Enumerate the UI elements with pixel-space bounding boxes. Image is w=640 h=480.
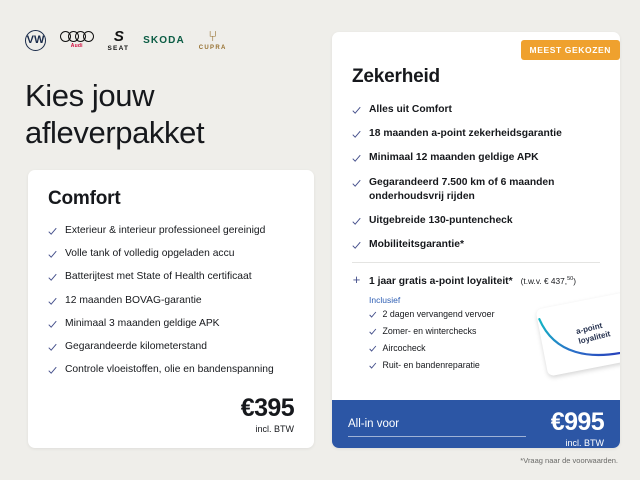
check-icon (352, 154, 361, 163)
skoda-wordmark: SKODA (143, 35, 185, 46)
list-item: 12 maanden BOVAG-garantie (48, 294, 294, 308)
list-item-label: 18 maanden a-point zekerheidsgarantie (369, 127, 562, 141)
check-icon (352, 130, 361, 139)
inclusief-block: Inclusief 2 dagen vervangend vervoer Zom… (369, 295, 600, 372)
package-card-comfort[interactable]: Comfort Exterieur & interieur profession… (28, 170, 314, 448)
comfort-feature-list: Exterieur & interieur professioneel gere… (48, 224, 294, 377)
allin-label: All-in voor (348, 410, 399, 430)
list-item: Minimaal 3 maanden geldige APK (48, 317, 294, 331)
zekerheid-price-note: incl. BTW (551, 438, 604, 448)
list-item-label: Minimaal 3 maanden geldige APK (65, 317, 220, 331)
comfort-title: Comfort (48, 188, 294, 210)
zekerheid-price-row: All-in voor €995 incl. BTW (348, 410, 604, 448)
brand-logo-strip: VW Audi S SEAT SKODA ⑂ CUPRA (25, 26, 227, 54)
list-item: Alles uit Comfort (352, 103, 600, 117)
check-icon (369, 311, 377, 319)
list-item: Batterijtest met State of Health certifi… (48, 270, 294, 284)
list-item: Gegarandeerde kilometerstand (48, 340, 294, 354)
list-item-label: 2 dagen vervangend vervoer (383, 309, 495, 321)
check-icon (352, 241, 361, 250)
list-item-label: Batterijtest met State of Health certifi… (65, 270, 252, 284)
loyalty-worth: (t.w.v. € 437,50) (521, 276, 576, 286)
check-icon (48, 343, 57, 352)
cupra-logo-icon: ⑂ CUPRA (199, 29, 227, 51)
list-item: Uitgebreide 130-puntencheck (352, 214, 600, 228)
vw-monogram: VW (27, 35, 45, 46)
check-icon (352, 217, 361, 226)
plus-icon: + (352, 273, 361, 286)
seat-wordmark: SEAT (108, 45, 130, 52)
list-item: Volle tank of volledig opgeladen accu (48, 247, 294, 261)
zekerheid-price-footer: All-in voor €995 incl. BTW (332, 400, 620, 448)
check-icon (48, 273, 57, 282)
footnote: *Vraag naar de voorwaarden. (520, 456, 618, 465)
list-item: Gegarandeerd 7.500 km of 6 maanden onder… (352, 176, 600, 204)
zekerheid-feature-list: Alles uit Comfort 18 maanden a-point zek… (352, 103, 600, 252)
loyalty-row: + 1 jaar gratis a-point loyaliteit* (t.w… (352, 273, 600, 287)
list-item-label: Uitgebreide 130-puntencheck (369, 214, 513, 228)
list-item: Minimaal 12 maanden geldige APK (352, 151, 600, 165)
status-badge: MEEST GEKOZEN (521, 40, 620, 60)
list-item-label: Alles uit Comfort (369, 103, 452, 117)
page-root: VW Audi S SEAT SKODA ⑂ CUPRA Kies jouw a… (0, 0, 640, 480)
check-icon (48, 227, 57, 236)
page-title: Kies jouw afleverpakket (25, 78, 305, 151)
list-item-label: Zomer- en winterchecks (383, 326, 477, 338)
check-icon (352, 179, 361, 188)
check-icon (48, 297, 57, 306)
comfort-price-block: €395 incl. BTW (241, 396, 294, 434)
seat-logo-icon: S SEAT (108, 29, 130, 52)
audi-wordmark: Audi (71, 43, 83, 49)
comfort-price-note: incl. BTW (241, 424, 294, 434)
comfort-price: €395 (241, 396, 294, 421)
list-item: Controle vloeistoffen, olie en bandenspa… (48, 363, 294, 377)
list-item-label: Volle tank of volledig opgeladen accu (65, 247, 234, 261)
list-item-label: Gegarandeerd 7.500 km of 6 maanden onder… (369, 176, 600, 204)
cupra-symbol: ⑂ (208, 29, 217, 44)
list-item: Exterieur & interieur professioneel gere… (48, 224, 294, 238)
skoda-logo-icon: SKODA (143, 35, 185, 46)
audi-logo-icon: Audi (60, 31, 94, 49)
list-item: 18 maanden a-point zekerheidsgarantie (352, 127, 600, 141)
list-item-label: Controle vloeistoffen, olie en bandenspa… (65, 363, 274, 377)
list-item-label: 12 maanden BOVAG-garantie (65, 294, 202, 308)
cupra-wordmark: CUPRA (199, 45, 227, 51)
list-item-label: Gegarandeerde kilometerstand (65, 340, 207, 354)
check-icon (48, 250, 57, 259)
check-icon (48, 320, 57, 329)
check-icon (48, 366, 57, 375)
audi-rings-icon (60, 31, 94, 42)
list-item-label: Exterieur & interieur professioneel gere… (65, 224, 265, 238)
zekerheid-price: €995 (551, 410, 604, 435)
loyalty-worth-prefix: (t.w.v. € 437, (521, 276, 567, 286)
price-rule (348, 436, 526, 437)
loyalty-label: 1 jaar gratis a-point loyaliteit* (369, 276, 513, 287)
zekerheid-body: MEEST GEKOZEN Zekerheid Alles uit Comfor… (332, 32, 620, 448)
check-icon (352, 106, 361, 115)
volkswagen-logo-icon: VW (25, 30, 46, 51)
list-item-label: Minimaal 12 maanden geldige APK (369, 151, 539, 165)
list-item-label: Aircocheck (383, 343, 426, 355)
check-icon (369, 345, 377, 353)
list-item-label: Mobiliteitsgarantie* (369, 238, 464, 252)
divider (352, 262, 600, 263)
list-item: Mobiliteitsgarantie* (352, 238, 600, 252)
seat-monogram: S (114, 29, 123, 44)
package-card-zekerheid[interactable]: MEEST GEKOZEN Zekerheid Alles uit Comfor… (332, 32, 620, 448)
list-item-label: Ruit- en bandenreparatie (383, 360, 480, 372)
zekerheid-title: Zekerheid (352, 66, 600, 88)
loyalty-worth-suffix: ) (573, 276, 576, 286)
zekerheid-price-block: €995 incl. BTW (551, 410, 604, 448)
check-icon (369, 362, 377, 370)
check-icon (369, 328, 377, 336)
